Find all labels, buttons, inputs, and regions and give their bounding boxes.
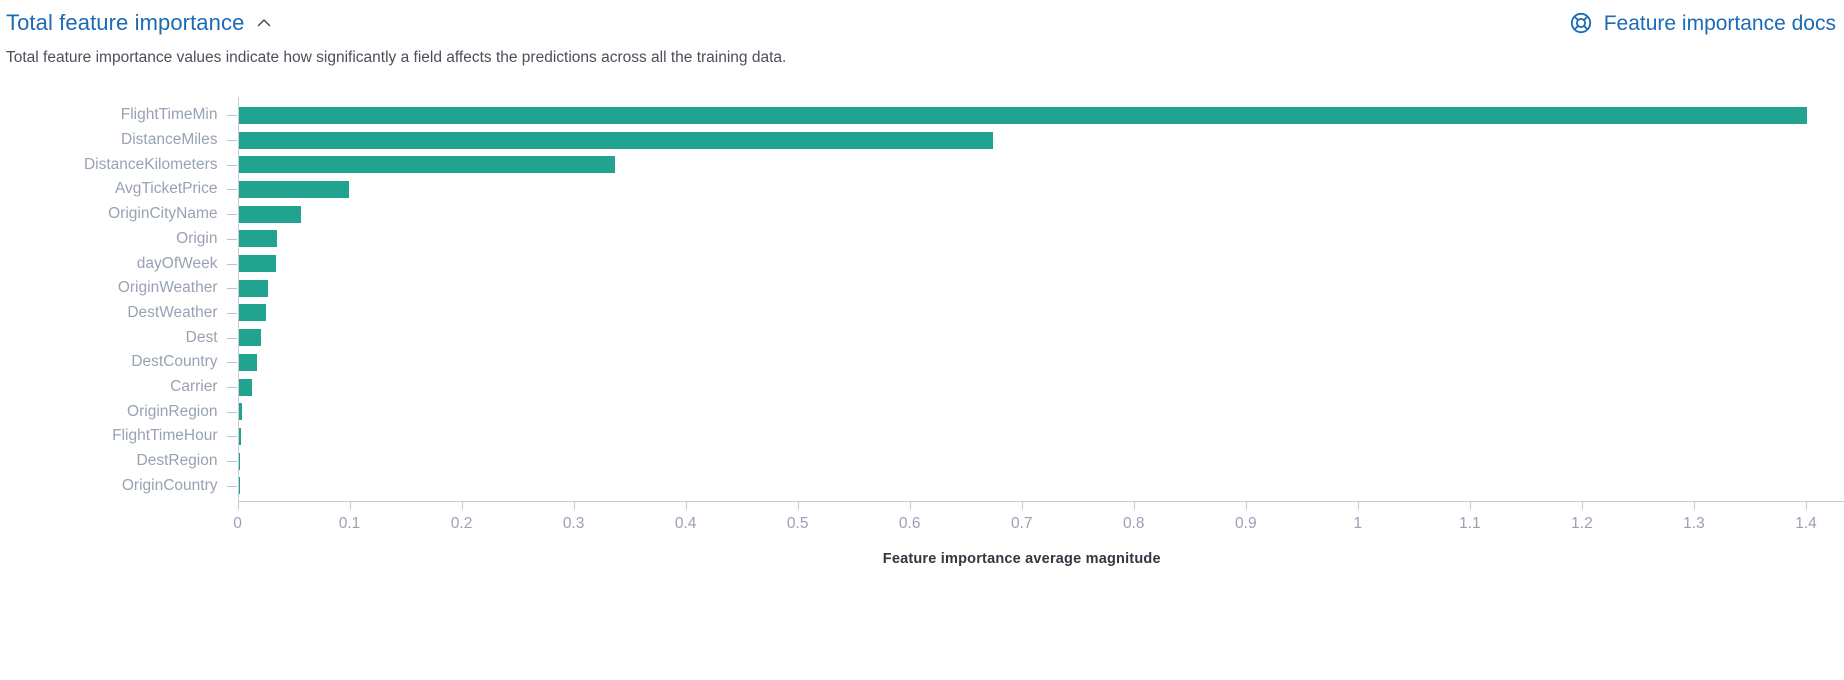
x-axis-tick	[910, 502, 911, 510]
y-axis-label: Dest	[186, 329, 218, 347]
y-axis-tick	[227, 387, 237, 388]
x-axis-label: 1.3	[1683, 515, 1705, 533]
x-axis-label: 0.5	[787, 515, 809, 533]
x-axis-tick	[1022, 502, 1023, 510]
y-axis-label: Origin	[176, 230, 217, 248]
y-axis-tick	[227, 115, 237, 116]
x-axis-label: 1	[1354, 515, 1363, 533]
x-axis-tick	[1134, 502, 1135, 510]
x-axis-label: 0	[233, 515, 242, 533]
x-axis-label: 1.2	[1571, 515, 1593, 533]
y-axis-label: DestCountry	[131, 353, 217, 371]
x-axis-label: 0.4	[675, 515, 697, 533]
x-axis-tick	[574, 502, 575, 510]
bar[interactable]	[239, 206, 301, 223]
x-axis-tick	[1358, 502, 1359, 510]
page-title: Total feature importance	[6, 12, 244, 34]
y-axis-label: DistanceKilometers	[84, 156, 218, 174]
y-axis-tick	[227, 436, 237, 437]
docs-link-label: Feature importance docs	[1604, 13, 1836, 34]
bar[interactable]	[239, 379, 252, 396]
x-axis-tick	[462, 502, 463, 510]
y-axis-label: OriginCityName	[108, 205, 217, 223]
y-axis-label: OriginRegion	[127, 403, 217, 421]
y-axis-label: dayOfWeek	[137, 255, 218, 273]
y-axis-tick	[227, 214, 237, 215]
bar[interactable]	[239, 107, 1808, 124]
feature-importance-chart: Feature importance average magnitude Fli…	[0, 90, 1844, 680]
bar[interactable]	[239, 132, 993, 149]
y-axis-label: FlightTimeHour	[112, 427, 217, 445]
bar[interactable]	[239, 230, 277, 247]
y-axis-tick	[227, 461, 237, 462]
y-axis-tick	[227, 189, 237, 190]
x-axis-tick	[238, 502, 239, 510]
y-axis-label: FlightTimeMin	[121, 106, 218, 124]
y-axis-label: DistanceMiles	[121, 131, 217, 149]
bar[interactable]	[239, 329, 262, 346]
x-axis-label: 1.4	[1795, 515, 1817, 533]
y-axis-tick	[227, 338, 237, 339]
x-axis-tick	[350, 502, 351, 510]
bar[interactable]	[239, 304, 266, 321]
x-axis-line	[238, 501, 1844, 502]
panel-header: Total feature importance Feature importa…	[0, 0, 1844, 46]
collapse-panel-toggle[interactable]: Total feature importance	[6, 12, 273, 34]
y-axis-tick	[227, 313, 237, 314]
chart-plot-area: Feature importance average magnitude Fli…	[0, 90, 1844, 680]
y-axis-tick	[227, 412, 237, 413]
bar[interactable]	[239, 403, 243, 420]
y-axis-tick	[227, 288, 237, 289]
y-axis-tick	[227, 362, 237, 363]
y-axis-label: AvgTicketPrice	[115, 180, 218, 198]
bar[interactable]	[239, 477, 241, 494]
bar[interactable]	[239, 453, 241, 470]
bar[interactable]	[239, 280, 269, 297]
x-axis-tick	[798, 502, 799, 510]
bar[interactable]	[239, 354, 257, 371]
help-buoy-icon	[1569, 11, 1593, 35]
y-axis-label: Carrier	[170, 378, 217, 396]
x-axis-tick	[1806, 502, 1807, 510]
y-axis-tick	[227, 165, 237, 166]
x-axis-tick	[1582, 502, 1583, 510]
bar[interactable]	[239, 428, 241, 445]
y-axis-tick	[227, 486, 237, 487]
feature-importance-docs-link[interactable]: Feature importance docs	[1569, 11, 1838, 35]
bar[interactable]	[239, 156, 615, 173]
x-axis-tick	[1694, 502, 1695, 510]
x-axis-label: 0.8	[1123, 515, 1145, 533]
x-axis-tick	[1246, 502, 1247, 510]
y-axis-label: DestRegion	[137, 452, 218, 470]
x-axis-tick	[686, 502, 687, 510]
x-axis-label: 0.6	[899, 515, 921, 533]
bar[interactable]	[239, 181, 349, 198]
x-axis-label: 0.2	[451, 515, 473, 533]
y-axis-label: DestWeather	[127, 304, 217, 322]
chevron-up-icon[interactable]	[255, 14, 273, 32]
x-axis-label: 0.9	[1235, 515, 1257, 533]
x-axis-title: Feature importance average magnitude	[0, 551, 1844, 567]
x-axis-label: 0.3	[563, 515, 585, 533]
y-axis-label: OriginCountry	[122, 477, 218, 495]
y-axis-tick	[227, 264, 237, 265]
x-axis-tick	[1470, 502, 1471, 510]
x-axis-label: 1.1	[1459, 515, 1481, 533]
y-axis-tick	[227, 239, 237, 240]
y-axis-tick	[227, 140, 237, 141]
y-axis-label: OriginWeather	[118, 279, 218, 297]
x-axis-label: 0.7	[1011, 515, 1033, 533]
bar[interactable]	[239, 255, 277, 272]
panel-description: Total feature importance values indicate…	[6, 47, 786, 69]
x-axis-label: 0.1	[339, 515, 361, 533]
